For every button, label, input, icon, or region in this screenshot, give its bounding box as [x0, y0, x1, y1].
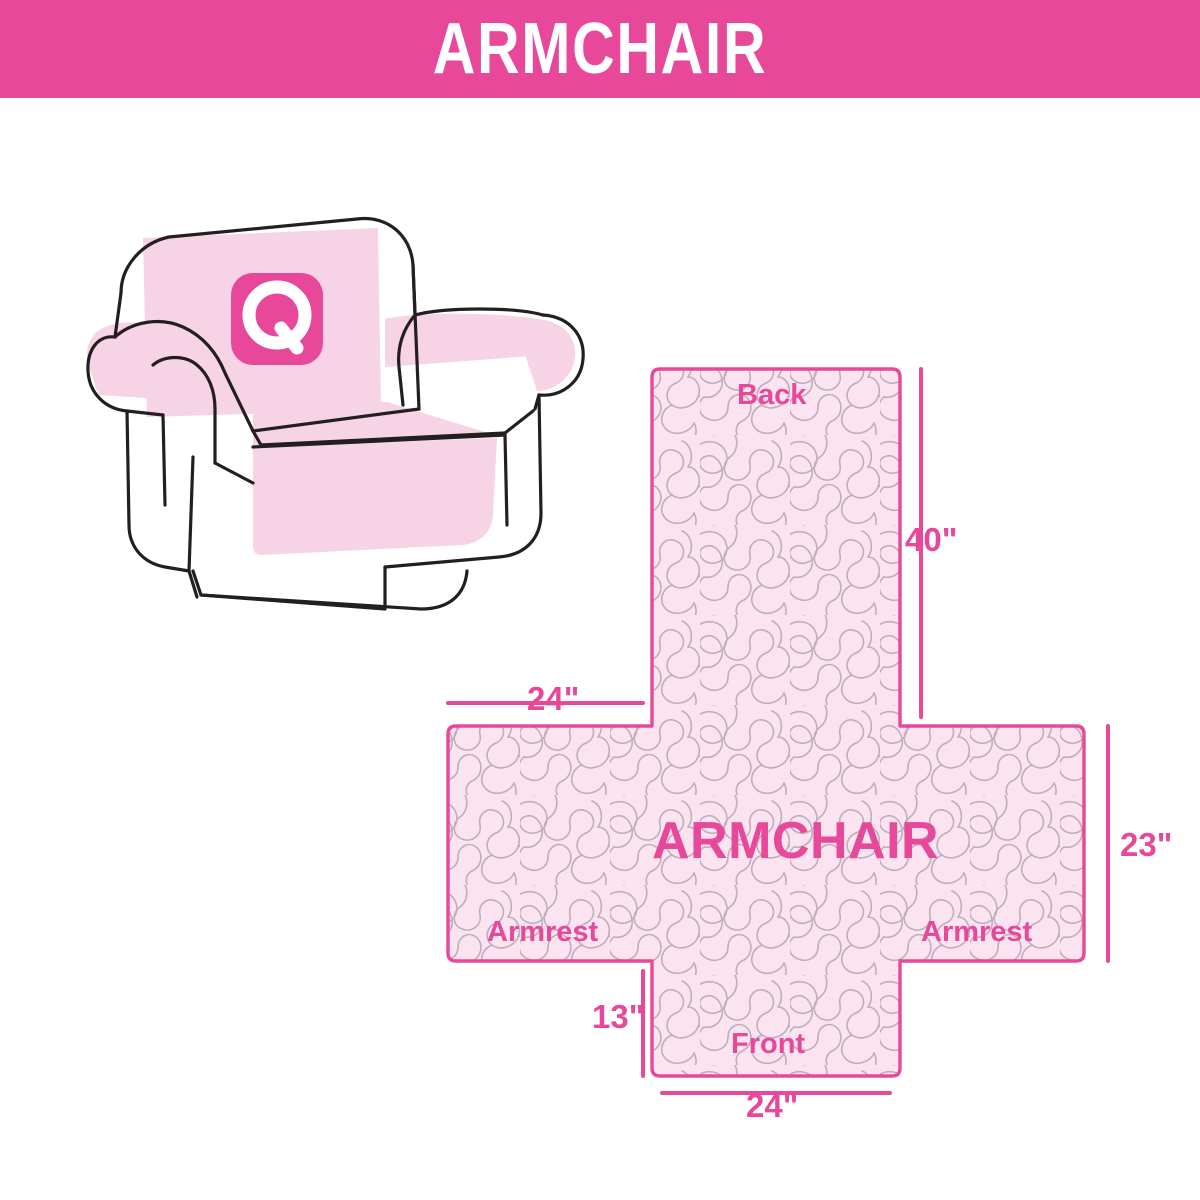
header-banner: ARMCHAIR [0, 0, 1200, 98]
dimension-back-height: 40" [905, 523, 957, 556]
page-root: ARMCHAIR [0, 0, 1200, 1200]
panel-label-armrest-right: Armrest [921, 918, 1032, 947]
panel-label-back: Back [737, 381, 806, 410]
page-title: ARMCHAIR [433, 13, 768, 85]
panel-label-front: Front [731, 1030, 805, 1059]
diagram-center-label: ARMCHAIR [652, 815, 939, 867]
panel-label-armrest-left: Armrest [487, 918, 598, 947]
cover-outline [448, 369, 1084, 1076]
dimension-front-height: 13" [592, 1000, 644, 1033]
dimension-seat-depth: 23" [1120, 828, 1172, 861]
brand-logo [231, 273, 323, 365]
cover-pattern-diagram [430, 345, 1190, 1135]
dimension-front-width: 24" [746, 1089, 798, 1122]
dimension-arm-width: 24" [527, 682, 579, 715]
